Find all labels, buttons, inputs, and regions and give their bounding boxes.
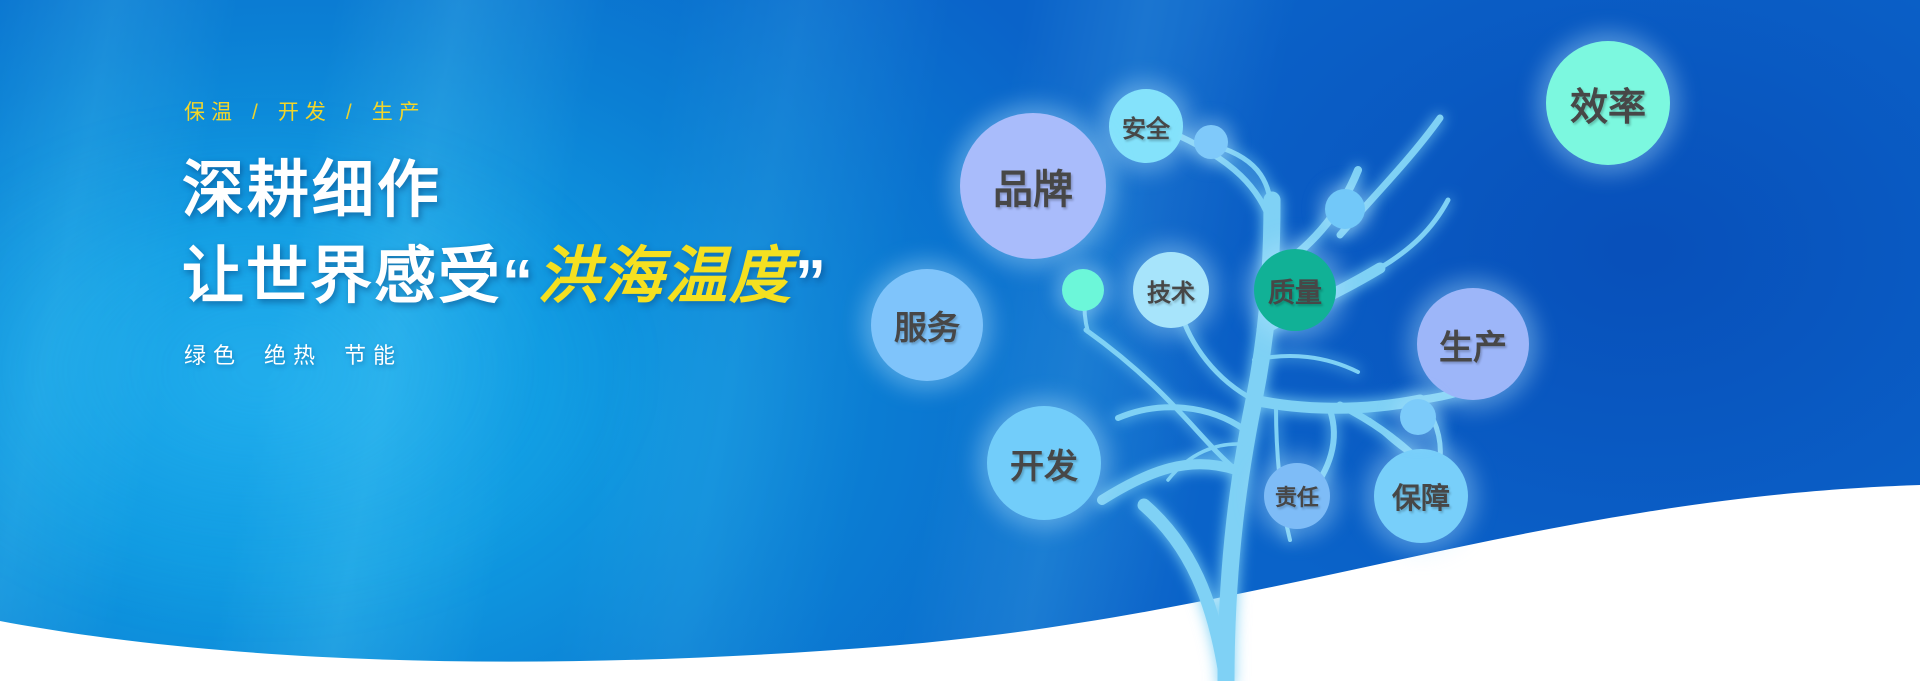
tree-bubble-label: 生产 (1439, 320, 1507, 369)
subline-keywords: 绿色绝热节能 (184, 338, 942, 370)
tree-bubble-label: 品牌 (993, 157, 1073, 215)
tree-dot (1400, 399, 1436, 435)
tree-bubble[interactable]: 开发 (987, 406, 1101, 520)
tree-bubble-label: 开发 (1010, 439, 1078, 488)
hero-banner: 保温/开发/生产 深耕细作 让世界感受“洪海温度” 绿色绝热节能 (0, 0, 1920, 681)
tree-bubble[interactable]: 保障 (1374, 449, 1468, 543)
eyebrow-separator-1: / (252, 101, 264, 124)
tree-bubble[interactable]: 安全 (1109, 89, 1183, 163)
tree-bubble-label: 安全 (1122, 109, 1170, 144)
tree-dot (1062, 269, 1104, 311)
tree-bubble-label: 技术 (1147, 273, 1195, 308)
tree-bubble-label: 服务 (894, 301, 960, 349)
tree-bubble[interactable]: 生产 (1417, 288, 1529, 400)
headline-line-2: 让世界感受“洪海温度” (182, 246, 942, 308)
headline-prefix: 让世界感受 (182, 246, 502, 308)
eyebrow-item-3: 生产 (372, 101, 426, 124)
tree-bubble[interactable]: 技术 (1133, 252, 1209, 328)
quote-close-mark: ” (795, 252, 828, 314)
subline-item-3: 节能 (344, 343, 402, 368)
headline-line-1: 深耕细作 (182, 160, 942, 222)
tree-bubble[interactable]: 责任 (1264, 463, 1330, 529)
tree-dot (1325, 189, 1365, 229)
tree-bubble[interactable]: 效率 (1546, 41, 1670, 165)
quote-open-mark: “ (502, 252, 535, 314)
tree-bubble[interactable]: 质量 (1254, 249, 1336, 331)
tree-bubble-label: 效率 (1570, 76, 1646, 131)
eyebrow-item-1: 保温 (184, 101, 238, 124)
tree-bubble-label: 责任 (1275, 480, 1319, 512)
tree-bubble-label: 质量 (1268, 271, 1322, 310)
subline-item-1: 绿色 (184, 343, 242, 368)
tree-dot (1194, 125, 1228, 159)
subline-item-2: 绝热 (264, 343, 322, 368)
eyebrow-separator-2: / (346, 101, 358, 124)
tree-bubble[interactable]: 品牌 (960, 113, 1106, 259)
eyebrow-item-2: 开发 (278, 101, 332, 124)
headline-accent: 洪海温度 (535, 246, 795, 308)
tree-bubble[interactable]: 服务 (871, 269, 983, 381)
hero-text-block: 保温/开发/生产 深耕细作 让世界感受“洪海温度” 绿色绝热节能 (182, 96, 942, 370)
eyebrow-tagline: 保温/开发/生产 (184, 96, 942, 126)
tree-bubble-label: 保障 (1392, 475, 1450, 517)
